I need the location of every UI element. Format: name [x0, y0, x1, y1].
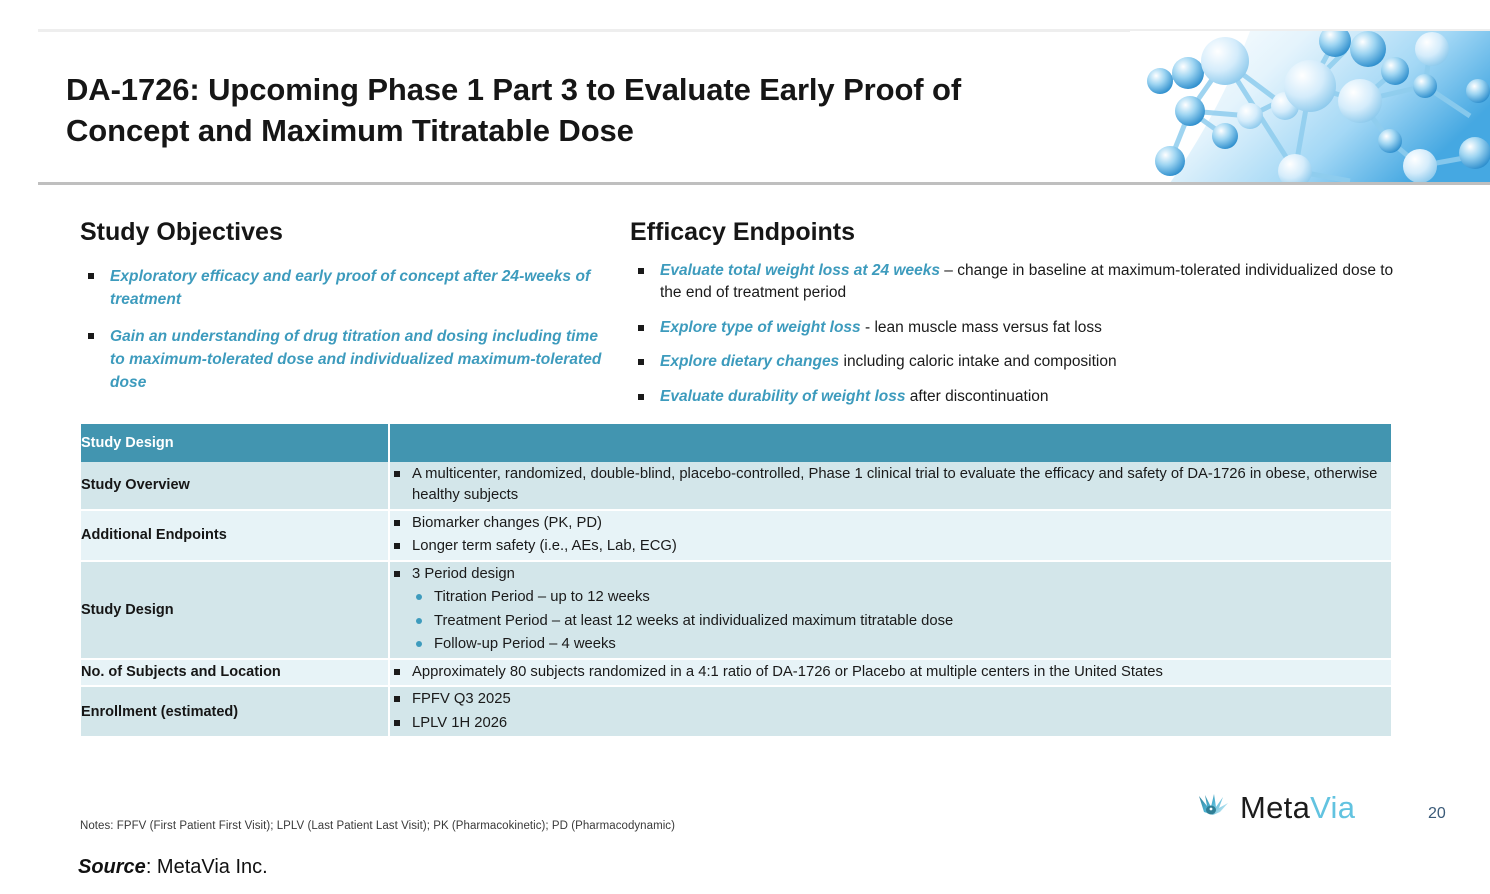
row-label: Study Overview [81, 462, 389, 510]
table-row: Additional Endpoints Biomarker changes (… [81, 510, 1391, 561]
study-design-table: Study Design Study Overview A multicente… [81, 424, 1391, 736]
study-objectives-list: Exploratory efficacy and early proof of … [86, 265, 606, 407]
efficacy-endpoints-heading: Efficacy Endpoints [630, 218, 855, 247]
objective-accent-text: Exploratory efficacy and early proof of … [110, 268, 590, 308]
table-header-row: Study Design [81, 424, 1391, 462]
butterfly-icon [1196, 793, 1230, 823]
source-label: Source [78, 856, 146, 878]
study-objectives-heading: Study Objectives [80, 218, 283, 247]
metavia-logo: MetaVia [1196, 792, 1355, 823]
row-body: A multicenter, randomized, double-blind,… [389, 462, 1391, 510]
row-label: Study Design [81, 561, 389, 659]
row-body: FPFV Q3 2025 LPLV 1H 2026 [389, 686, 1391, 736]
list-item: Evaluate durability of weight loss after… [636, 386, 1396, 408]
list-item: Explore type of weight loss - lean muscl… [636, 317, 1396, 339]
row-label: Additional Endpoints [81, 510, 389, 561]
source-value: : MetaVia Inc. [146, 856, 268, 878]
table-row: Enrollment (estimated) FPFV Q3 2025 LPLV… [81, 686, 1391, 736]
footnotes: Notes: FPFV (First Patient First Visit);… [80, 820, 675, 832]
list-item: FPFV Q3 2025 [390, 689, 1391, 710]
row-sub-bullet-list: Titration Period – up to 12 weeks Treatm… [412, 587, 1391, 655]
endpoint-accent-text: Explore dietary changes [660, 353, 839, 370]
row-bullet-list: Biomarker changes (PK, PD) Longer term s… [390, 513, 1391, 558]
list-item: A multicenter, randomized, double-blind,… [390, 464, 1391, 507]
table-row: Study Overview A multicenter, randomized… [81, 462, 1391, 510]
endpoint-rest-text: after discontinuation [905, 388, 1048, 405]
row-bullet-list: A multicenter, randomized, double-blind,… [390, 464, 1391, 507]
row-body: 3 Period design Titration Period – up to… [389, 561, 1391, 659]
list-item: Evaluate total weight loss at 24 weeks –… [636, 260, 1396, 305]
list-item: 3 Period design [390, 564, 1391, 585]
endpoint-rest-text: - lean muscle mass versus fat loss [861, 319, 1102, 336]
row-bullet-list: Approximately 80 subjects randomized in … [390, 662, 1391, 683]
row-label: No. of Subjects and Location [81, 659, 389, 686]
row-bullet-list: FPFV Q3 2025 LPLV 1H 2026 [390, 689, 1391, 734]
row-label: Enrollment (estimated) [81, 686, 389, 736]
title-divider [38, 182, 1490, 185]
row-bullet-list: 3 Period design [390, 564, 1391, 585]
row-body: Approximately 80 subjects randomized in … [389, 659, 1391, 686]
table-row: Study Design 3 Period design Titration P… [81, 561, 1391, 659]
list-item: Biomarker changes (PK, PD) [390, 513, 1391, 534]
page-title: DA-1726: Upcoming Phase 1 Part 3 to Eval… [66, 70, 1066, 152]
table-row: No. of Subjects and Location Approximate… [81, 659, 1391, 686]
list-item: Gain an understanding of drug titration … [86, 325, 606, 395]
endpoint-accent-text: Explore type of weight loss [660, 319, 861, 336]
list-item: Exploratory efficacy and early proof of … [86, 265, 606, 312]
page-number: 20 [1428, 805, 1446, 823]
list-item: Treatment Period – at least 12 weeks at … [412, 611, 1391, 632]
logo-text-via: Via [1310, 790, 1355, 825]
endpoint-accent-text: Evaluate total weight loss at 24 weeks [660, 262, 940, 279]
table-header-blank [389, 424, 1391, 462]
endpoint-rest-text: including caloric intake and composition [839, 353, 1116, 370]
logo-wordmark: MetaVia [1240, 792, 1355, 823]
logo-text-meta: Meta [1240, 790, 1310, 825]
objective-accent-text: Gain an understanding of drug titration … [110, 328, 601, 392]
list-item: Explore dietary changes including calori… [636, 351, 1396, 373]
efficacy-endpoints-list: Evaluate total weight loss at 24 weeks –… [636, 260, 1396, 420]
source-line: Source: MetaVia Inc. [78, 856, 268, 879]
list-item: Follow-up Period – 4 weeks [412, 634, 1391, 655]
list-item: Longer term safety (i.e., AEs, Lab, ECG) [390, 536, 1391, 557]
molecule-structure-graphic [1130, 31, 1490, 183]
list-item: Approximately 80 subjects randomized in … [390, 662, 1391, 683]
slide-canvas: DA-1726: Upcoming Phase 1 Part 3 to Eval… [0, 0, 1490, 894]
table-header-label: Study Design [81, 424, 389, 462]
row-body: Biomarker changes (PK, PD) Longer term s… [389, 510, 1391, 561]
list-item: LPLV 1H 2026 [390, 713, 1391, 734]
list-item: Titration Period – up to 12 weeks [412, 587, 1391, 608]
endpoint-accent-text: Evaluate durability of weight loss [660, 388, 905, 405]
